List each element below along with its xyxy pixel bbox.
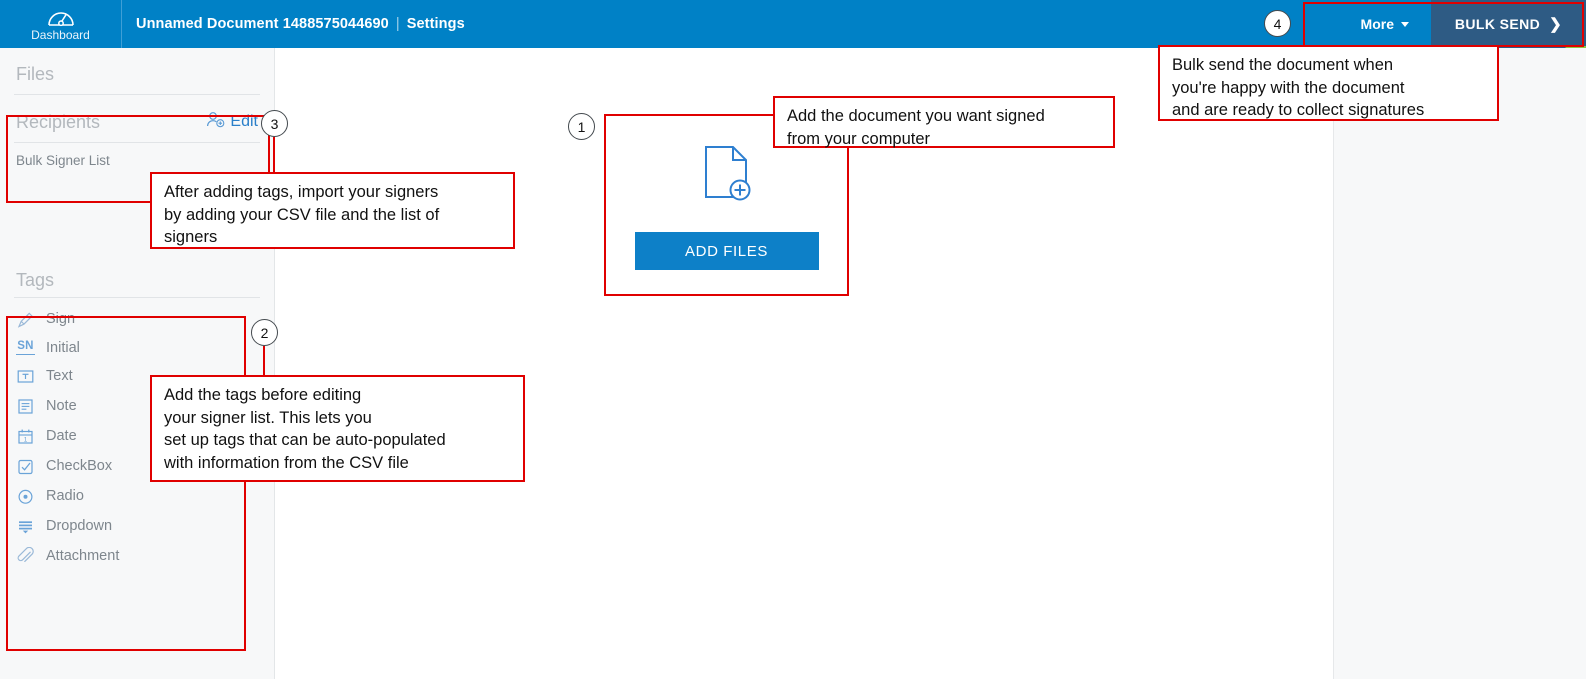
settings-link[interactable]: Settings [407,16,465,32]
tags-panel-title: Tags [0,262,274,297]
annotation-callout-2: Add the tags before editing your signer … [150,375,525,482]
dashboard-nav-button[interactable]: Dashboard [0,0,122,48]
annotation-callout-1: Add the document you want signed from yo… [773,96,1115,148]
annotation-highlight-2 [6,316,246,651]
gauge-icon [47,8,75,29]
annotation-callout-4: Bulk send the document when you're happy… [1158,45,1499,121]
annotation-marker-1: 1 [568,113,595,140]
canvas-right-panel [1334,48,1586,679]
files-panel-title: Files [0,48,274,94]
document-title-bar: Unnamed Document 1488575044690 | Setting… [122,0,465,48]
annotation-marker-4: 4 [1264,10,1291,37]
title-separator: | [396,16,400,32]
dashboard-label: Dashboard [31,29,90,41]
annotation-callout-3: After adding tags, import your signers b… [150,172,515,249]
tags-divider [14,297,260,298]
annotation-marker-3: 3 [261,110,288,137]
annotation-leader-3 [273,137,275,172]
document-title: Unnamed Document 1488575044690 [136,16,389,32]
annotation-marker-2: 2 [251,319,278,346]
annotation-leader-2 [263,346,265,375]
annotation-highlight-4 [1303,2,1584,47]
